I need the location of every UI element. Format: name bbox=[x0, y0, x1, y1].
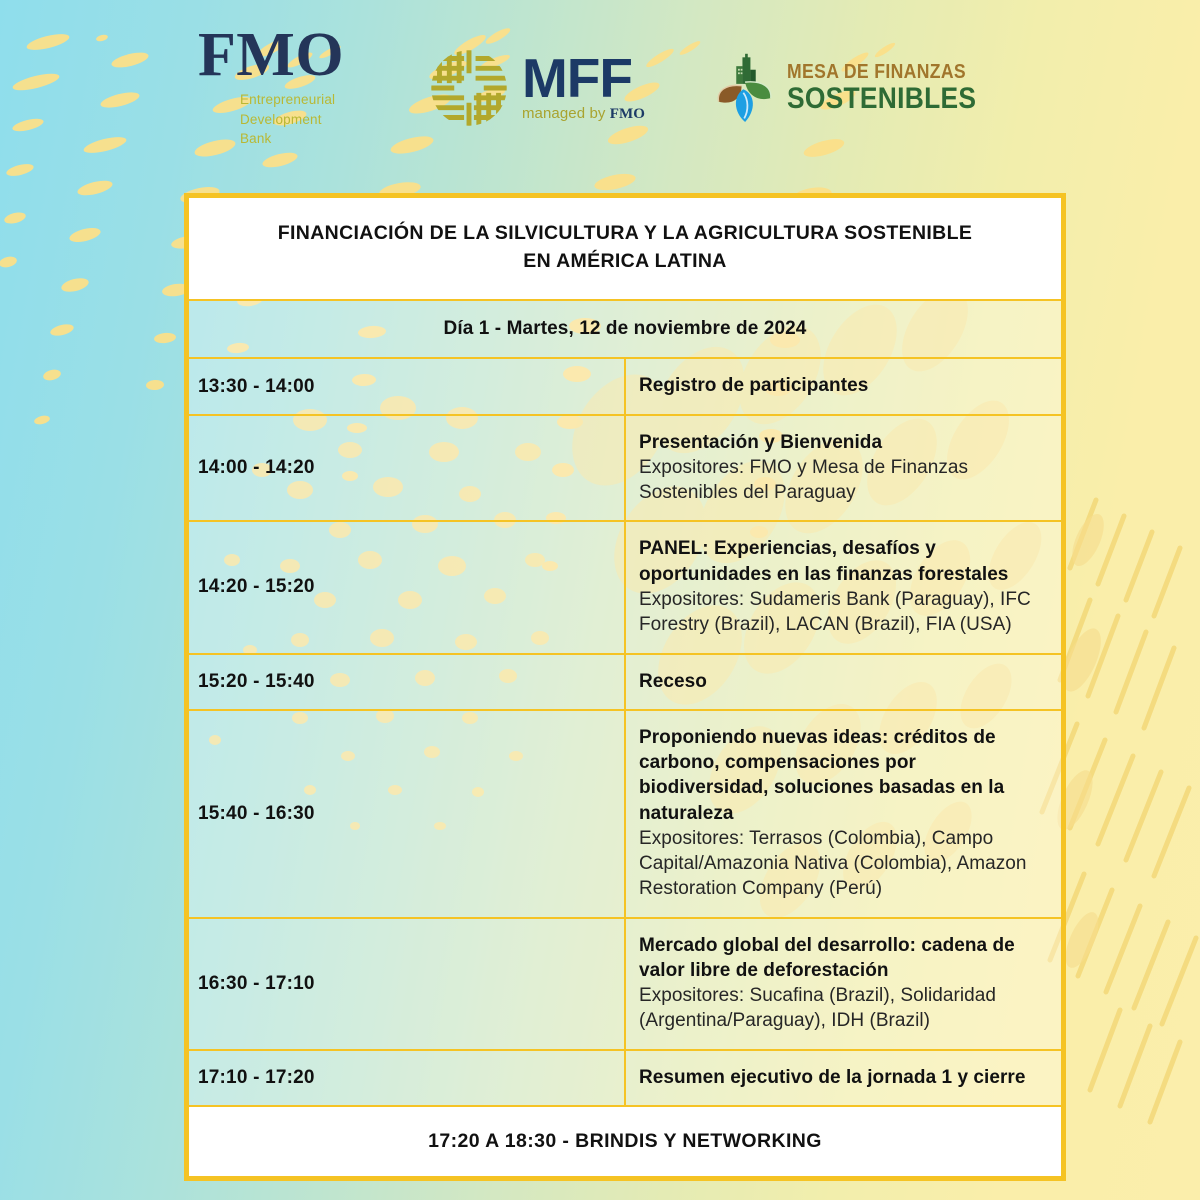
session-speakers: Expositores: Sudameris Bank (Paraguay), … bbox=[639, 587, 1047, 638]
fmo-tagline-line-1: Entrepreneurial bbox=[240, 90, 335, 110]
session-speakers: Expositores: Sucafina (Brazil), Solidari… bbox=[639, 983, 1047, 1034]
mfs-line-1: MESA DE FINANZAS bbox=[787, 62, 976, 82]
session-title: Proponiendo nuevas ideas: créditos de ca… bbox=[639, 725, 1047, 826]
agenda-day-label: Día 1 - Martes, 12 de noviembre de 2024 bbox=[188, 300, 1062, 358]
logo-bar: FMO Entrepreneurial Development Bank bbox=[0, 0, 1200, 176]
session-title: Resumen ejecutivo de la jornada 1 y cier… bbox=[639, 1065, 1047, 1090]
fmo-tagline-line-3: Bank bbox=[240, 129, 335, 149]
session-description: Proponiendo nuevas ideas: créditos de ca… bbox=[625, 710, 1062, 918]
fmo-tagline: Entrepreneurial Development Bank bbox=[240, 90, 335, 149]
agenda-table: FINANCIACIÓN DE LA SILVICULTURA Y LA AGR… bbox=[187, 196, 1063, 1178]
session-title: Presentación y Bienvenida bbox=[639, 430, 1047, 455]
session-time: 13:30 - 14:00 bbox=[188, 358, 625, 414]
mff-tagline-prefix: managed by bbox=[522, 105, 610, 122]
session-speakers: Expositores: FMO y Mesa de Finanzas Sost… bbox=[639, 455, 1047, 506]
table-row: 15:20 - 15:40 Receso bbox=[188, 654, 1062, 710]
table-row: 14:00 - 14:20 Presentación y Bienvenida … bbox=[188, 415, 1062, 522]
table-row: 15:40 - 16:30 Proponiendo nuevas ideas: … bbox=[188, 710, 1062, 918]
mesa-de-finanzas-sostenibles-logo: MESA DE FINANZAS SOSTENIBLES bbox=[715, 52, 1002, 124]
table-row: 13:30 - 14:00 Registro de participantes bbox=[188, 358, 1062, 414]
mfs-text-block: MESA DE FINANZAS SOSTENIBLES bbox=[787, 62, 1002, 114]
session-title: PANEL: Experiencias, desafíos y oportuni… bbox=[639, 536, 1047, 587]
mfs-line-2: SOSTENIBLES bbox=[787, 84, 976, 114]
mff-tagline: managed by FMO bbox=[522, 105, 645, 123]
agenda-day-row: Día 1 - Martes, 12 de noviembre de 2024 bbox=[188, 300, 1062, 358]
city-silhouette bbox=[736, 54, 755, 84]
session-title: Mercado global del desarrollo: cadena de… bbox=[639, 933, 1047, 984]
session-title: Registro de participantes bbox=[639, 373, 1047, 398]
agenda-title-row: FINANCIACIÓN DE LA SILVICULTURA Y LA AGR… bbox=[188, 197, 1062, 300]
agenda-table-wrapper: FINANCIACIÓN DE LA SILVICULTURA Y LA AGR… bbox=[184, 193, 1066, 1181]
table-row: 16:30 - 17:10 Mercado global del desarro… bbox=[188, 918, 1062, 1050]
fmo-tagline-line-2: Development bbox=[240, 110, 335, 130]
session-time: 17:10 - 17:20 bbox=[188, 1050, 625, 1106]
session-description: Mercado global del desarrollo: cadena de… bbox=[625, 918, 1062, 1050]
table-row: 14:20 - 15:20 PANEL: Experiencias, desaf… bbox=[188, 521, 1062, 653]
agenda-title-line-1: FINANCIACIÓN DE LA SILVICULTURA Y LA AGR… bbox=[219, 220, 1031, 248]
session-time: 15:20 - 15:40 bbox=[188, 654, 625, 710]
session-description: Receso bbox=[625, 654, 1062, 710]
fmo-wordmark: FMO bbox=[198, 27, 344, 84]
mff-woven-circle-icon bbox=[428, 47, 510, 129]
mff-wordmark: MFF bbox=[522, 53, 645, 104]
mff-text-block: MFF managed by FMO bbox=[522, 53, 645, 124]
table-row: 17:10 - 17:20 Resumen ejecutivo de la jo… bbox=[188, 1050, 1062, 1106]
session-time: 15:40 - 16:30 bbox=[188, 710, 625, 918]
session-description: Presentación y Bienvenida Expositores: F… bbox=[625, 415, 1062, 522]
session-description: Registro de participantes bbox=[625, 358, 1062, 414]
agenda-footer-label: 17:20 A 18:30 - BRINDIS Y NETWORKING bbox=[188, 1106, 1062, 1177]
session-title: Receso bbox=[639, 669, 1047, 694]
agenda-title-cell: FINANCIACIÓN DE LA SILVICULTURA Y LA AGR… bbox=[188, 197, 1062, 300]
session-time: 14:00 - 14:20 bbox=[188, 415, 625, 522]
session-speakers: Expositores: Terrasos (Colombia), Campo … bbox=[639, 826, 1047, 902]
mff-logo: MFF managed by FMO bbox=[428, 47, 645, 129]
agenda-footer-row: 17:20 A 18:30 - BRINDIS Y NETWORKING bbox=[188, 1106, 1062, 1177]
session-description: Resumen ejecutivo de la jornada 1 y cier… bbox=[625, 1050, 1062, 1106]
leaf-city-icon bbox=[715, 52, 777, 124]
mff-tagline-brand: FMO bbox=[610, 106, 645, 122]
session-time: 14:20 - 15:20 bbox=[188, 521, 625, 653]
session-description: PANEL: Experiencias, desafíos y oportuni… bbox=[625, 521, 1062, 653]
agenda-title-line-2: EN AMÉRICA LATINA bbox=[219, 248, 1031, 276]
session-time: 16:30 - 17:10 bbox=[188, 918, 625, 1050]
fmo-logo: FMO Entrepreneurial Development Bank bbox=[198, 27, 358, 149]
